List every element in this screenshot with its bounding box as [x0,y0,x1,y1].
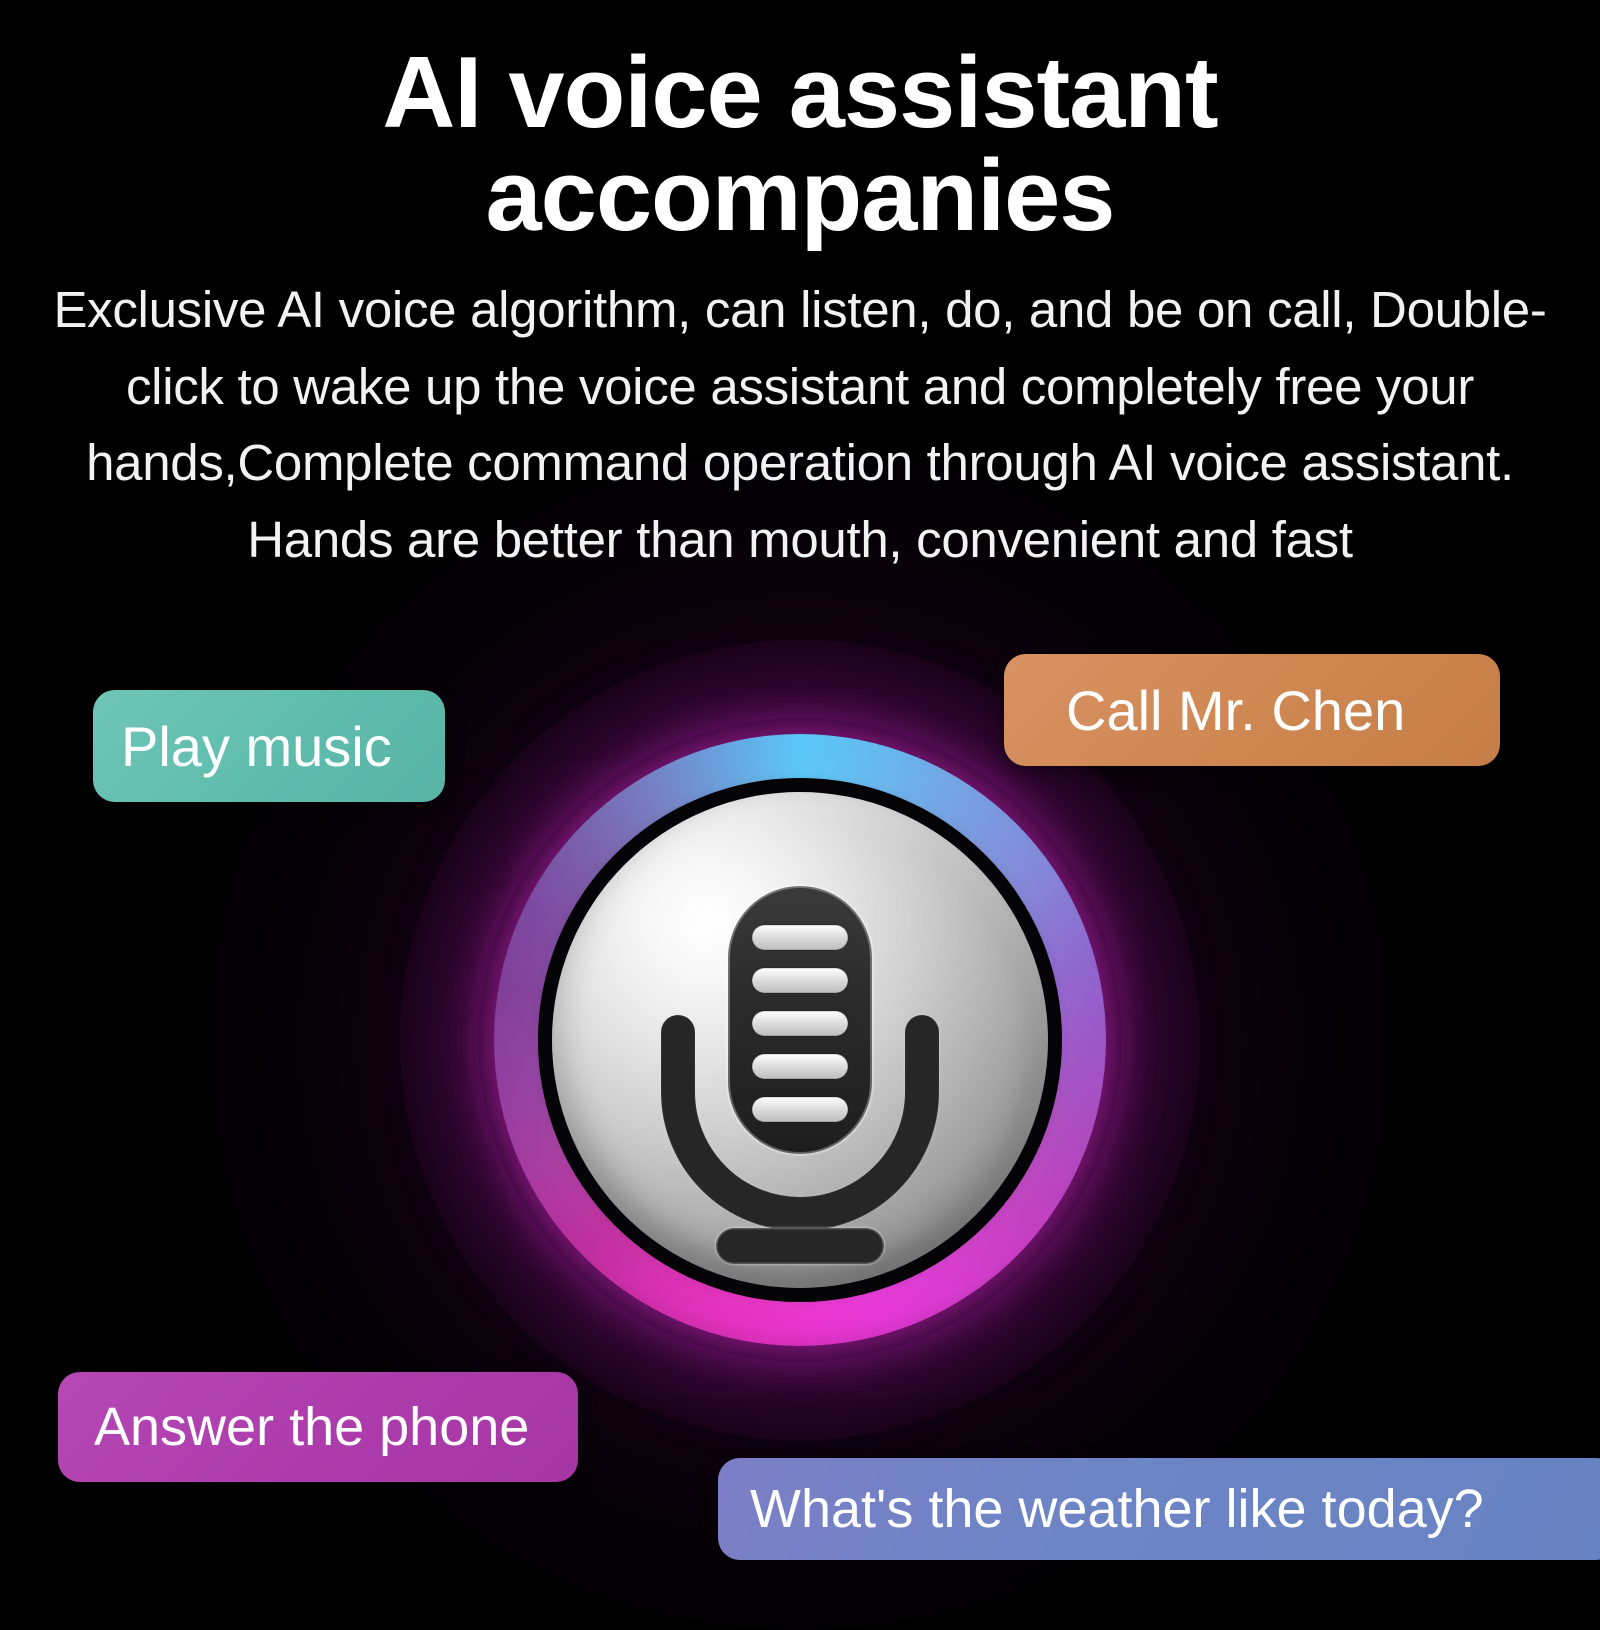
command-pill-label: Play music [121,714,392,779]
command-pill-call-chen[interactable]: Call Mr. Chen [1004,654,1500,766]
command-pill-weather[interactable]: What's the weather like today? [718,1458,1600,1560]
mic-button-face [552,792,1048,1288]
command-pill-label: Answer the phone [94,1396,529,1458]
command-pill-label: Call Mr. Chen [1066,678,1405,743]
microphone-icon [552,792,1048,1288]
command-pill-answer-phone[interactable]: Answer the phone [58,1372,578,1482]
voice-assistant-mic-button[interactable] [494,734,1106,1346]
command-pill-label: What's the weather like today? [750,1478,1484,1540]
page-title: AI voice assistant accompanies [0,42,1600,248]
page-description: Exclusive AI voice algorithm, can listen… [0,272,1600,578]
command-pill-play-music[interactable]: Play music [93,690,445,802]
